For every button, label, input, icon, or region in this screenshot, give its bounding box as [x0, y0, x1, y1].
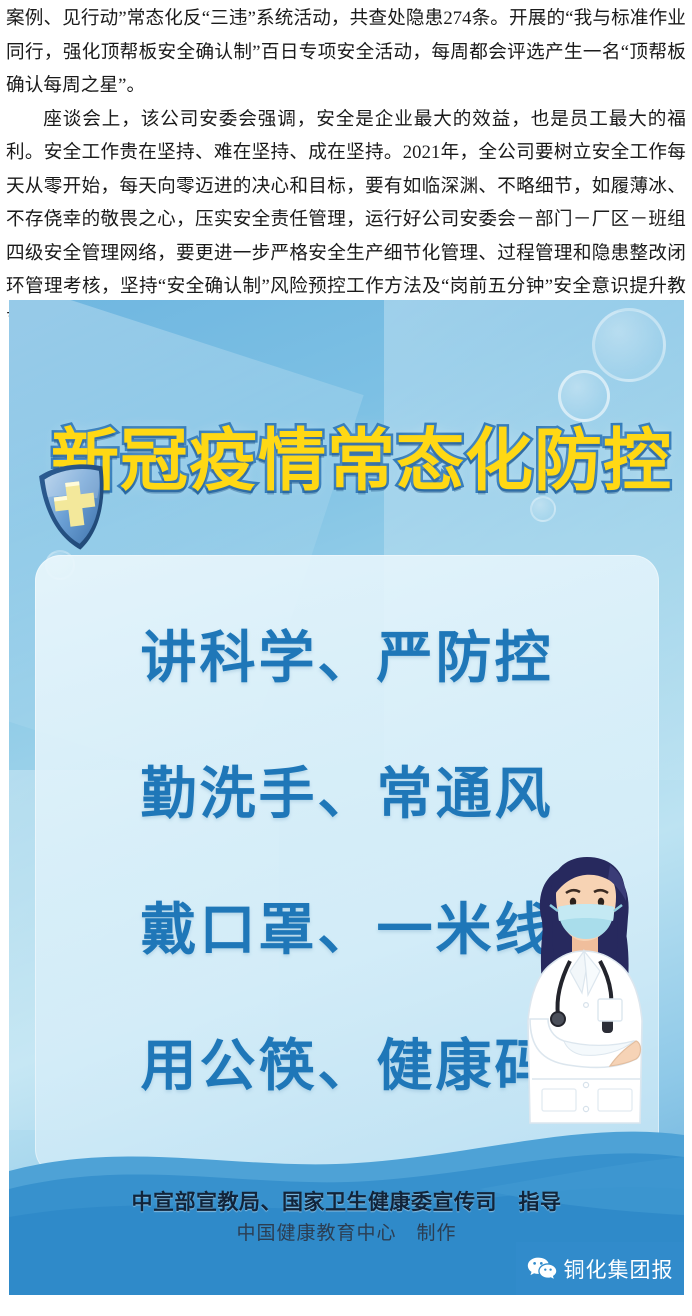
- watermark-label: 铜化集团报: [564, 1254, 674, 1284]
- credit-main-line: 中宣部宣教局、国家卫生健康委宣传司 指导: [9, 1187, 684, 1217]
- shield-cross-icon: [32, 456, 119, 557]
- decorative-bubble-icon: [592, 308, 666, 382]
- article-paragraph-1: 案例、见行动”常态化反“三违”系统活动，共查处隐患274条。开展的“我与标准作业…: [6, 2, 686, 103]
- wechat-watermark-badge[interactable]: 铜化集团报: [516, 1242, 684, 1295]
- covid-prevention-poster: 新冠疫情常态化防控 讲科学: [9, 300, 684, 1295]
- page-root: 案例、见行动”常态化反“三违”系统活动，共查处隐患274条。开展的“我与标准作业…: [0, 0, 692, 1316]
- poster-title: 新冠疫情常态化防控: [51, 414, 661, 510]
- wechat-icon: [527, 1256, 557, 1282]
- poster-credits: 中宣部宣教局、国家卫生健康委宣传司 指导 中国健康教育中心 制作: [9, 1187, 684, 1249]
- slogan-line: 讲科学、严防控: [35, 591, 659, 727]
- article-text-block: 案例、见行动”常态化反“三违”系统活动，共查处隐患274条。开展的“我与标准作业…: [0, 0, 692, 337]
